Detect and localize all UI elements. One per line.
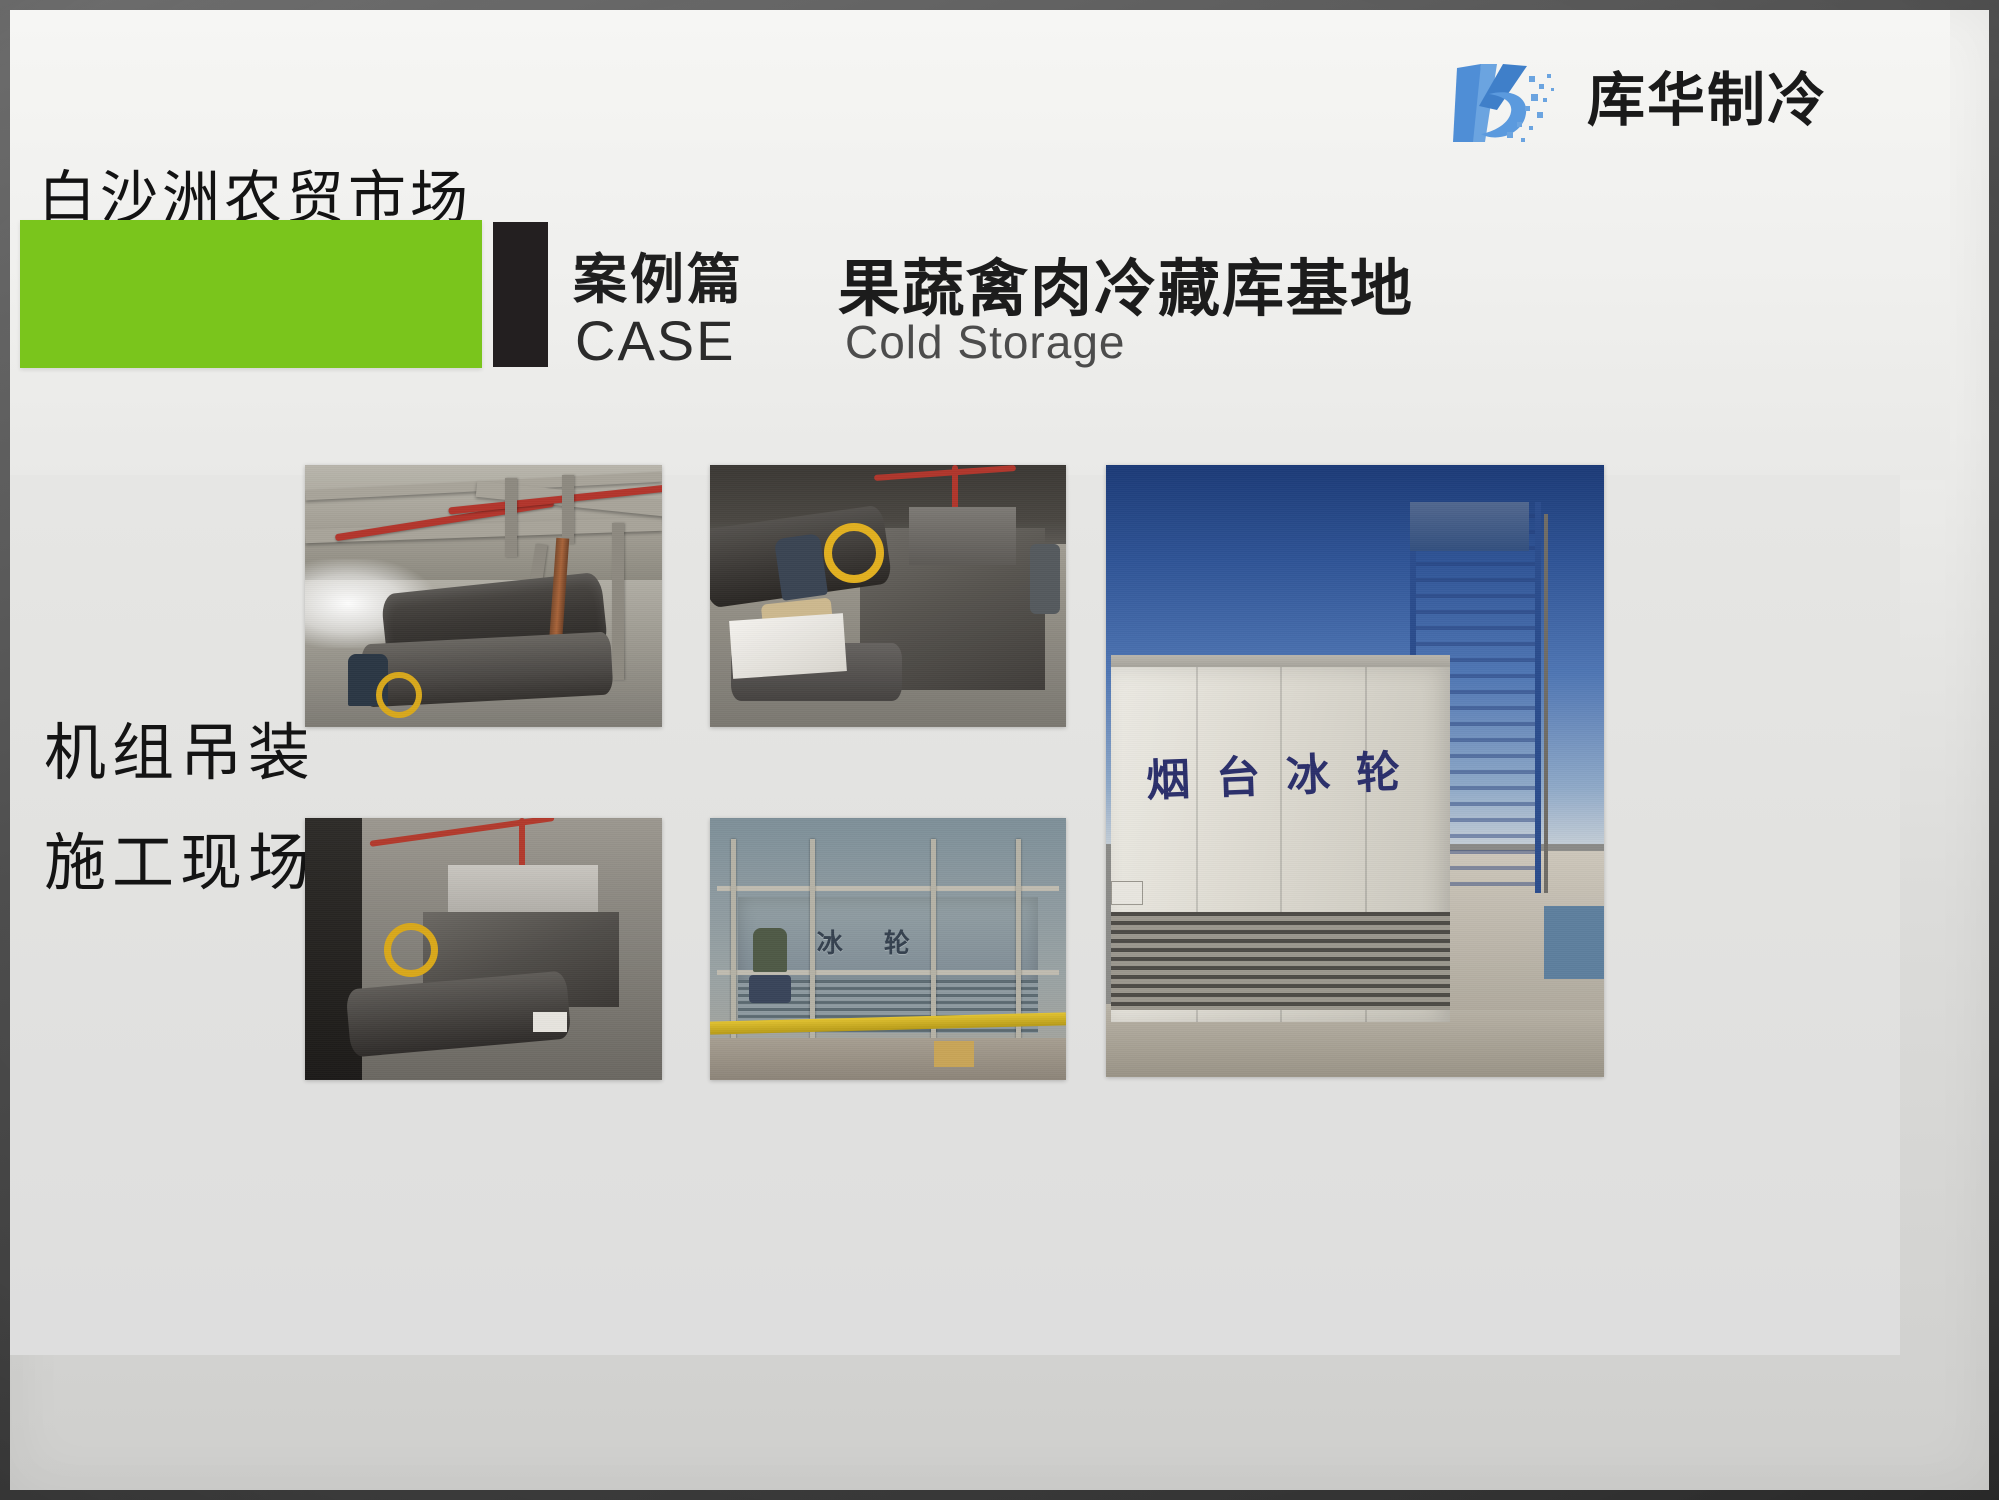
photo-cooling-tower-roof-installed: 烟台冰轮	[1106, 465, 1604, 1077]
presentation-slide: 库华制冷 白沙洲农贸市场 案例篇 CASE 果蔬禽肉冷藏库基地 Cold Sto…	[0, 0, 1999, 1500]
company-logo: 库华制冷	[1451, 54, 1827, 146]
photo-cooling-tower-ground-assembly: 冰 轮	[710, 818, 1066, 1080]
caption-line-2: 施工现场	[44, 812, 316, 902]
black-accent-block	[493, 222, 548, 367]
section-label-en: CASE	[575, 308, 736, 373]
photo-machine-room-vessel-hoisting	[305, 465, 662, 727]
green-accent-bar	[20, 220, 482, 368]
photo-compressor-skid-installation	[710, 465, 1066, 727]
slide-heading-en: Cold Storage	[845, 315, 1126, 369]
company-name: 库华制冷	[1587, 71, 1827, 129]
section-label-cn: 案例篇	[573, 235, 744, 314]
slide-canvas: 库华制冷 白沙洲农贸市场 案例篇 CASE 果蔬禽肉冷藏库基地 Cold Sto…	[10, 10, 1989, 1490]
photo-machine-room-unit-second-view	[305, 818, 662, 1080]
equipment-tag	[1111, 881, 1143, 905]
caption-line-1: 机组吊装	[44, 702, 316, 792]
kh-monogram-icon	[1451, 54, 1569, 146]
photo-sign-text-yantai-bingluan: 烟台冰轮	[1145, 736, 1427, 810]
photo-sign-text-bingluan: 冰 轮	[817, 923, 926, 960]
